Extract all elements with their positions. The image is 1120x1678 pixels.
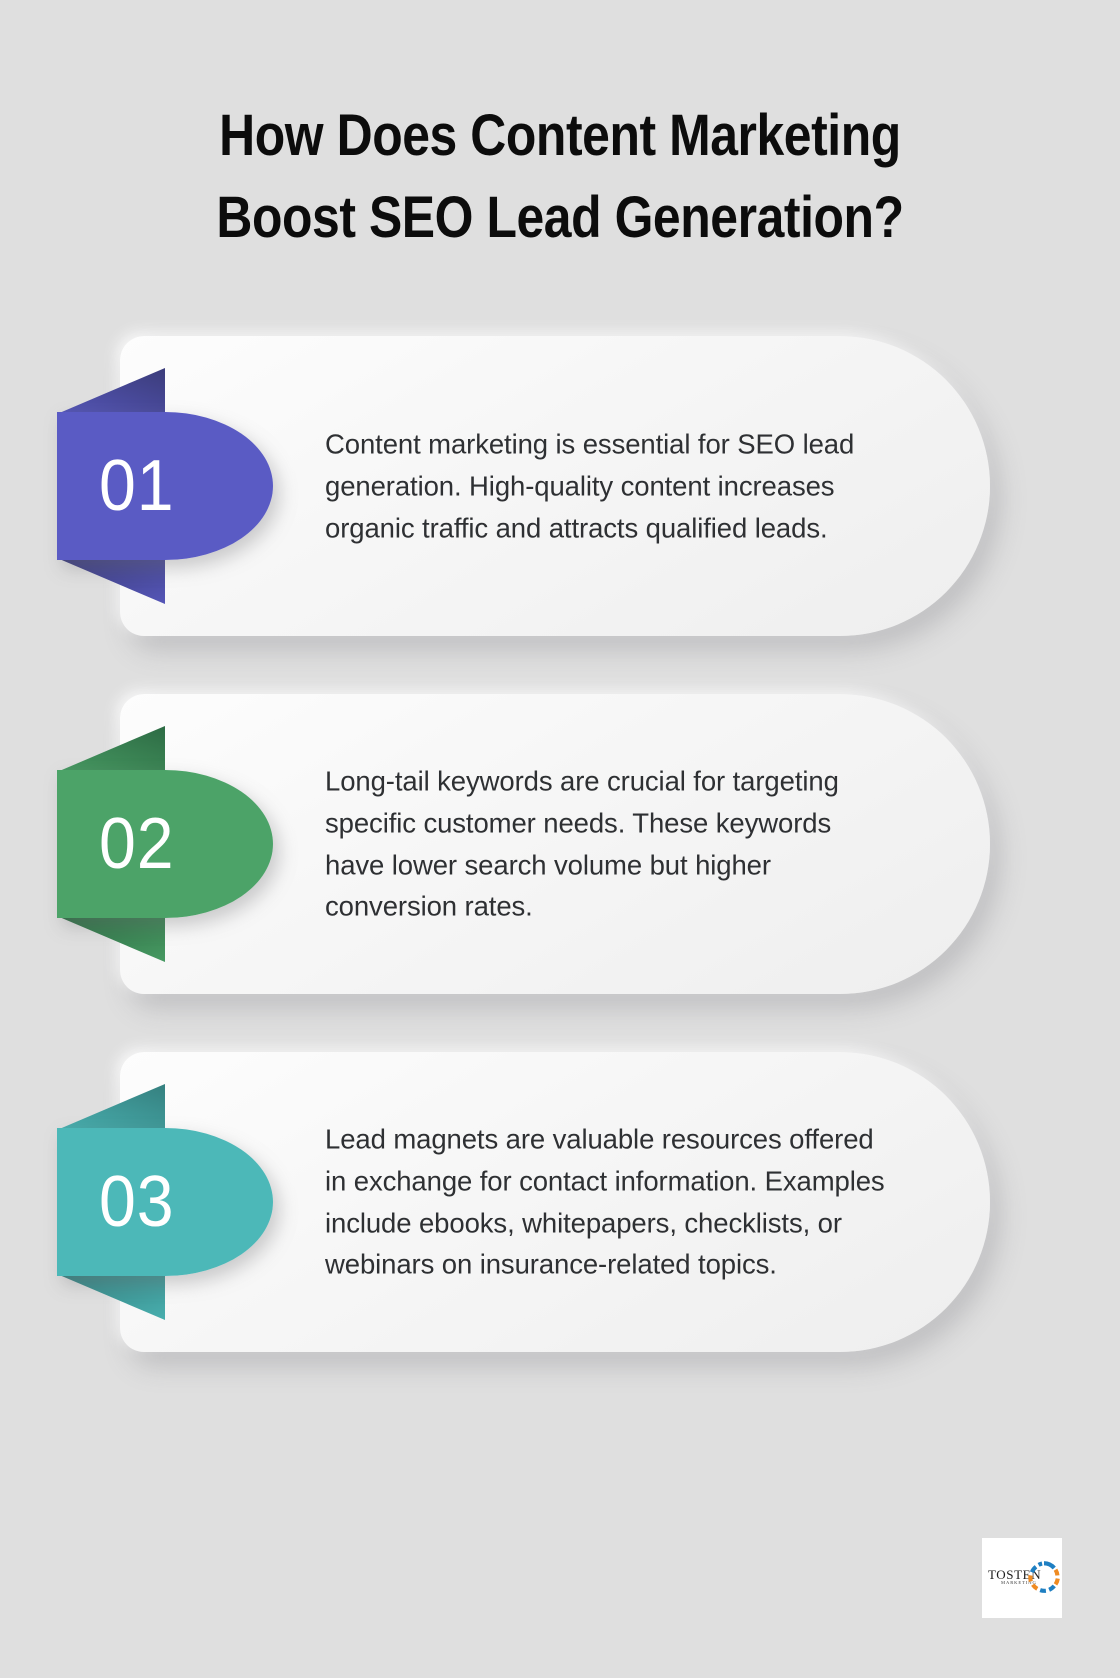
logo-inner: TOSTEN MARKETING xyxy=(986,1558,1058,1598)
info-card: 02 Long-tail keywords are crucial for ta… xyxy=(0,694,1120,994)
number-badge: 02 xyxy=(57,770,273,918)
number-badge: 01 xyxy=(57,412,273,560)
ribbon-fold-bottom xyxy=(57,1274,165,1320)
segmented-ring-icon xyxy=(1028,1561,1060,1593)
card-body-text: Long-tail keywords are crucial for targe… xyxy=(325,760,885,927)
info-card: 03 Lead magnets are valuable resources o… xyxy=(0,1052,1120,1352)
number-badge-group: 01 xyxy=(57,368,273,604)
card-body-text: Lead magnets are valuable resources offe… xyxy=(325,1118,885,1285)
info-card: 01 Content marketing is essential for SE… xyxy=(0,336,1120,636)
number-badge-label: 01 xyxy=(99,450,175,522)
page-title-line-2: Boost SEO Lead Generation? xyxy=(139,177,982,259)
ribbon-fold-top xyxy=(57,1084,165,1130)
number-badge-label: 03 xyxy=(99,1166,175,1238)
ribbon-fold-bottom xyxy=(57,916,165,962)
ribbon-fold-bottom xyxy=(57,558,165,604)
number-badge-group: 03 xyxy=(57,1084,273,1320)
number-badge: 03 xyxy=(57,1128,273,1276)
card-body-text: Content marketing is essential for SEO l… xyxy=(325,423,885,548)
page-title-line-1: How Does Content Marketing xyxy=(139,95,982,177)
card-list: 01 Content marketing is essential for SE… xyxy=(0,336,1120,1410)
ribbon-fold-top xyxy=(57,726,165,772)
ribbon-fold-top xyxy=(57,368,165,414)
number-badge-group: 02 xyxy=(57,726,273,962)
brand-logo: TOSTEN MARKETING xyxy=(982,1538,1062,1618)
number-badge-label: 02 xyxy=(99,808,175,880)
page-title: How Does Content Marketing Boost SEO Lea… xyxy=(0,95,1120,260)
